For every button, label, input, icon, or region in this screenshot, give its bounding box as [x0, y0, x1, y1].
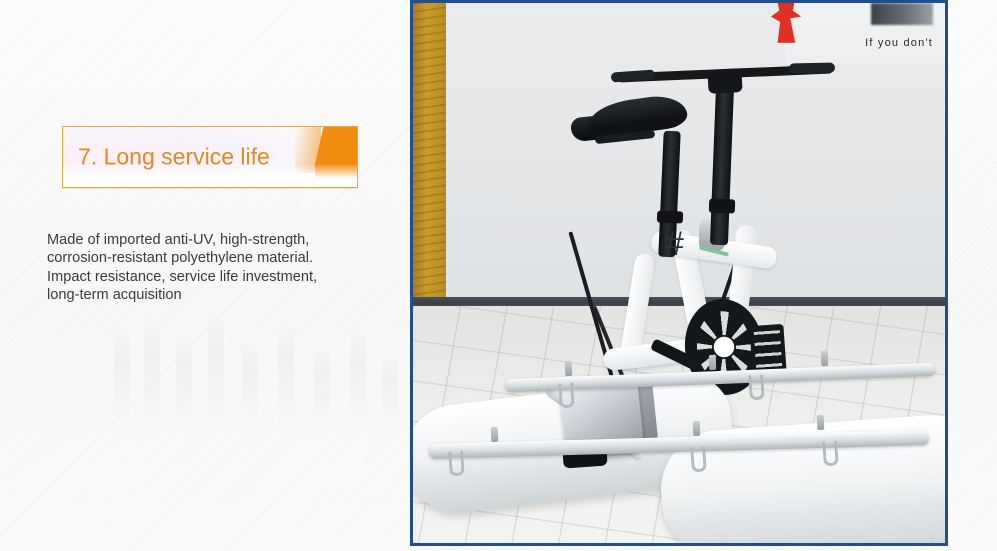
section-title-plaque: 7. Long service life	[62, 126, 358, 188]
photo-tie-hook	[748, 375, 765, 401]
product-photo: If you don't	[413, 3, 945, 543]
page-title: 7. Long service life	[78, 143, 270, 169]
photo-handlebar-clamp	[707, 68, 742, 94]
photo-crossbar-stud	[565, 361, 573, 376]
body-line-4: long-term acquisition	[47, 286, 377, 304]
photo-tie-hook	[690, 447, 707, 473]
photo-steerer-collar	[709, 199, 735, 214]
body-line-3: Impact resistance, service life investme…	[47, 268, 377, 286]
photo-tie-hook	[448, 451, 465, 477]
photo-tie-hook	[822, 441, 839, 467]
photo-hash-watermark: #	[665, 227, 684, 261]
photo-seat-clamp	[657, 211, 683, 224]
photo-crossbar-stud	[817, 415, 825, 430]
slide-canvas: 7. Long service life Made of imported an…	[0, 0, 997, 551]
photo-crossbar-stud	[693, 421, 701, 436]
photo-poster-text: If you don't	[865, 37, 933, 49]
photo-tie-hook	[558, 383, 575, 409]
photo-pedal	[749, 324, 786, 374]
photo-crossbar-stud	[709, 355, 717, 370]
body-copy: Made of imported anti-UV, high-strength,…	[47, 231, 377, 305]
background-watermark-graphic	[110, 300, 400, 420]
photo-wood-column	[413, 3, 446, 303]
product-photo-frame: If you don't	[410, 0, 948, 546]
photo-handlebar-grip-right	[789, 63, 835, 74]
photo-crossbar-stud	[491, 427, 499, 442]
photo-poster-dark-band	[871, 3, 933, 25]
photo-crossbar-stud	[821, 351, 829, 366]
title-wedge-shape	[315, 127, 357, 187]
body-line-1: Made of imported anti-UV, high-strength,	[47, 231, 377, 249]
body-line-2: corrosion-resistant polyethylene materia…	[47, 249, 377, 267]
